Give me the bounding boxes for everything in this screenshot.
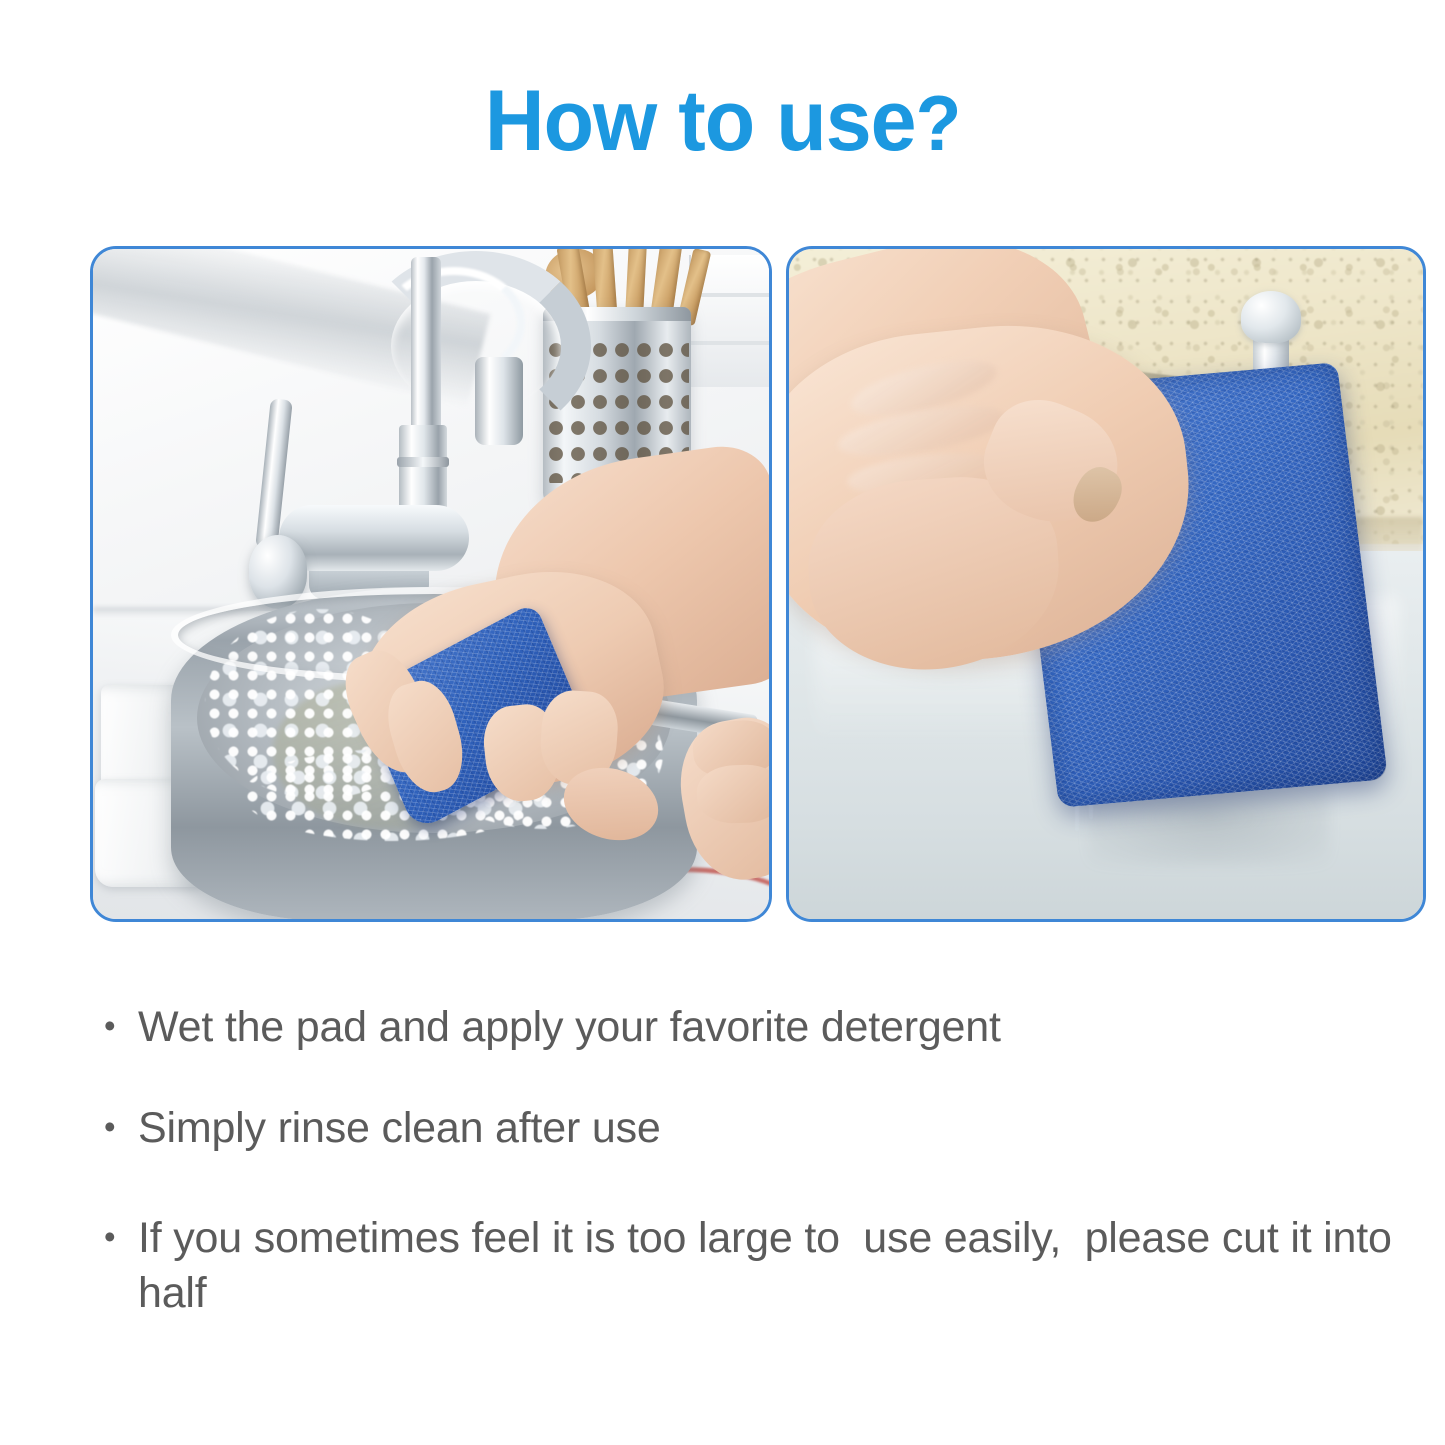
list-item: • If you sometimes feel it is too large …	[104, 1211, 1404, 1320]
list-item: • Simply rinse clean after use	[104, 1101, 1404, 1156]
bullet-marker-icon: •	[104, 1211, 138, 1262]
faucet-spout	[411, 257, 441, 447]
page-title-main: How to use	[485, 73, 916, 169]
scene-washing-pot	[93, 249, 769, 919]
list-item-label: If you sometimes feel it is too large to…	[138, 1211, 1404, 1320]
finger	[696, 764, 769, 825]
fixture-cap	[1241, 291, 1301, 343]
scene-holding-pad	[789, 249, 1423, 919]
list-item-label: Simply rinse clean after use	[138, 1101, 1404, 1156]
bullet-marker-icon: •	[104, 1000, 138, 1051]
shelf-line	[689, 341, 769, 345]
instruction-list: • Wet the pad and apply your favorite de…	[104, 1000, 1404, 1320]
product-infographic-page: { "page": { "background_color": "#ffffff…	[0, 0, 1445, 1445]
page-title-text: How to use?	[485, 78, 961, 164]
list-item-label: Wet the pad and apply your favorite dete…	[138, 1000, 1404, 1055]
list-item: • Wet the pad and apply your favorite de…	[104, 1000, 1404, 1055]
photo-panel-holding-pad	[786, 246, 1426, 922]
faucet-body	[279, 505, 469, 571]
bullet-marker-icon: •	[104, 1101, 138, 1152]
photo-panel-washing-pot	[90, 246, 772, 922]
page-title: How to use?	[0, 78, 1445, 164]
faucet-ring	[397, 457, 449, 467]
faucet-nozzle	[475, 357, 523, 445]
page-title-question-mark: ?	[915, 79, 960, 167]
